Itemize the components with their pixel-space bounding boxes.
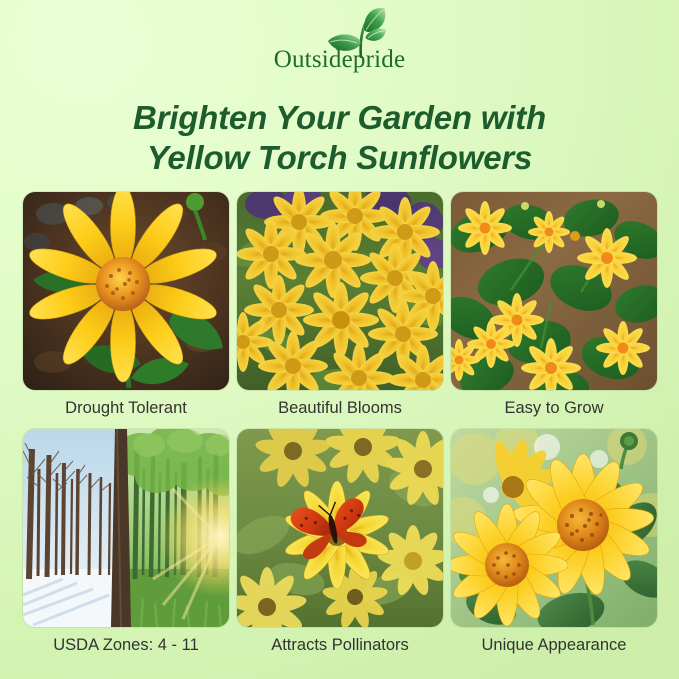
mass-of-golden-blooms-photo <box>237 192 443 390</box>
feature-caption: Easy to Grow <box>504 397 603 419</box>
feature-card-beautiful-blooms[interactable]: Beautiful Blooms <box>237 192 443 419</box>
feature-grid: Drought Tolerant <box>23 192 657 656</box>
title-line-1: Brighten Your Garden with <box>133 99 546 136</box>
feature-card-unique-appearance[interactable]: Unique Appearance <box>451 429 657 656</box>
closeup-two-yellow-flowers-photo <box>451 429 657 627</box>
page-title: Brighten Your Garden with Yellow Torch S… <box>0 98 679 178</box>
winter-summer-forest-split-photo <box>23 429 229 627</box>
feature-caption: Drought Tolerant <box>65 397 187 419</box>
feature-row-1: Drought Tolerant <box>23 192 657 419</box>
brand-name: Outsidepride <box>274 47 406 72</box>
feature-row-2: USDA Zones: 4 - 11 <box>23 429 657 656</box>
title-line-2: Yellow Torch Sunflowers <box>0 138 679 178</box>
feature-caption: Beautiful Blooms <box>278 397 402 419</box>
brand-logo: Outsidepride <box>0 6 679 90</box>
feature-card-easy-to-grow[interactable]: Easy to Grow <box>451 192 657 419</box>
feature-card-attracts-pollinators[interactable]: Attracts Pollinators <box>237 429 443 656</box>
leafy-plant-with-yellow-flowers-photo <box>451 192 657 390</box>
feature-caption: Attracts Pollinators <box>271 634 409 656</box>
feature-card-drought-tolerant[interactable]: Drought Tolerant <box>23 192 229 419</box>
feature-caption: USDA Zones: 4 - 11 <box>53 634 199 656</box>
feature-caption: Unique Appearance <box>482 634 627 656</box>
butterfly-on-yellow-flower-photo <box>237 429 443 627</box>
single-yellow-sunflower-on-soil-photo <box>23 192 229 390</box>
infographic-canvas: Outsidepride Brighten Your Garden with Y… <box>0 0 679 679</box>
feature-card-usda-zones[interactable]: USDA Zones: 4 - 11 <box>23 429 229 656</box>
